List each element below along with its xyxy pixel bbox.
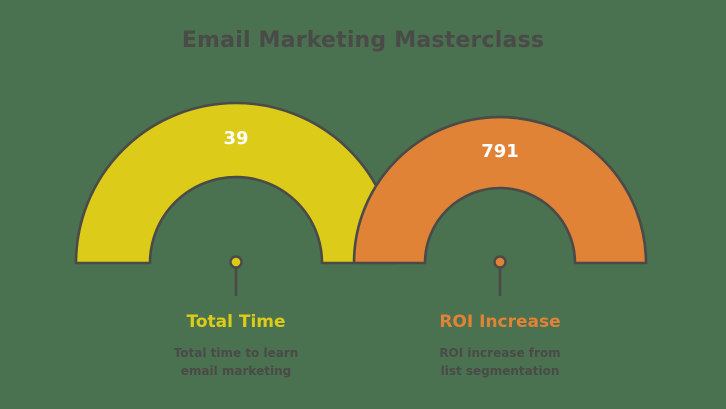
- legend-desc-line-1: Total time to learn: [136, 344, 336, 362]
- legend-desc-roi-increase: ROI increase from list segmentation: [400, 344, 600, 380]
- legend-desc-line-2: email marketing: [136, 362, 336, 380]
- pin-dot-roi-increase: [495, 257, 506, 268]
- legend-label-total-time: Total Time: [136, 312, 336, 332]
- legend-item-total-time[interactable]: Total Time Total time to learn email mar…: [136, 312, 336, 380]
- legend-desc-total-time: Total time to learn email marketing: [136, 344, 336, 380]
- legend-desc-line-1: ROI increase from: [400, 344, 600, 362]
- gauge-arc-total-time[interactable]: [76, 103, 396, 263]
- gauge-graphic: 39 791: [0, 0, 726, 409]
- gauge-value-roi-increase: 791: [481, 141, 519, 162]
- legend-item-roi-increase[interactable]: ROI Increase ROI increase from list segm…: [400, 312, 600, 380]
- legend-label-roi-increase: ROI Increase: [400, 312, 600, 332]
- gauge-value-total-time: 39: [223, 128, 248, 149]
- legend-desc-line-2: list segmentation: [400, 362, 600, 380]
- pin-dot-total-time: [231, 257, 242, 268]
- gauge-chart-canvas: Email Marketing Masterclass 39 791 Total…: [0, 0, 726, 409]
- gauge-arc-roi-increase[interactable]: [354, 117, 646, 263]
